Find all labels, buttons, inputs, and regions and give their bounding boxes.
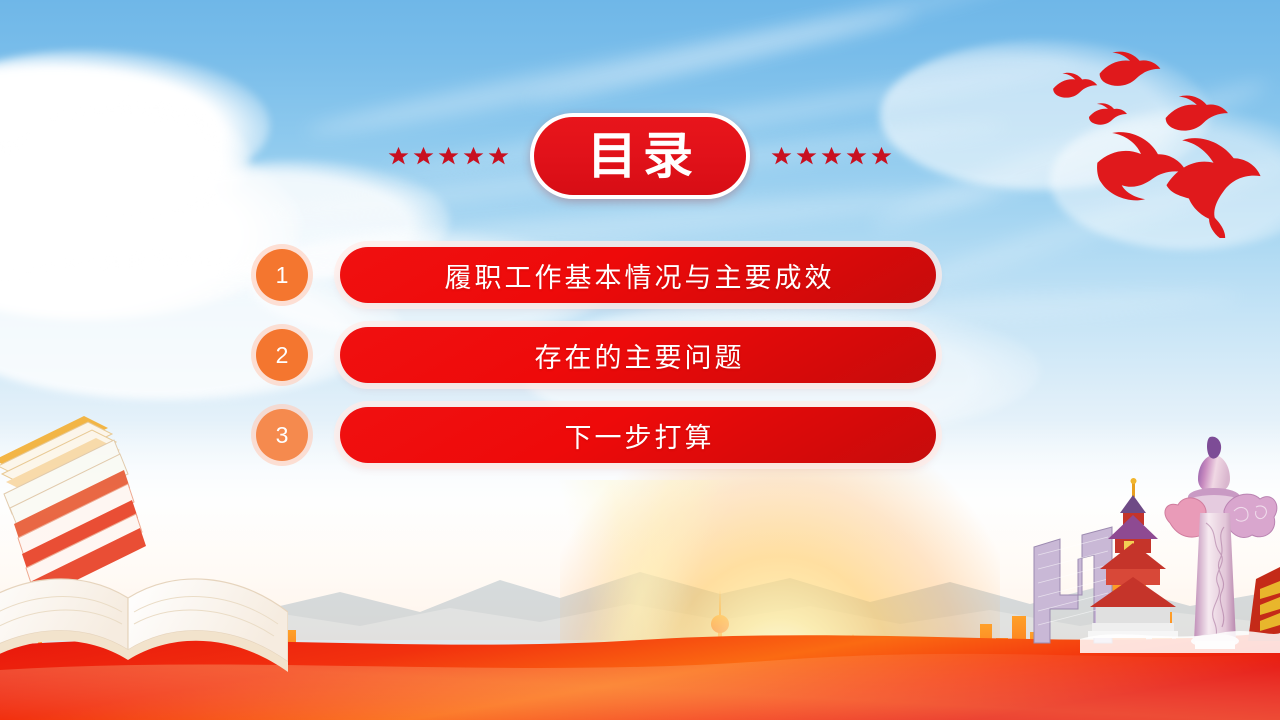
star-icon: [412, 145, 435, 167]
agenda-label-1: 履职工作基本情况与主要成效: [442, 256, 835, 295]
agenda-number-2: 2: [276, 342, 289, 369]
star-icon: [820, 145, 843, 167]
agenda-label-2: 存在的主要问题: [532, 336, 745, 375]
agenda-pill-2[interactable]: 存在的主要问题: [340, 327, 936, 383]
star-icon: [387, 145, 410, 167]
star-icon: [487, 145, 510, 167]
stars-right: [770, 145, 893, 167]
star-icon: [795, 145, 818, 167]
agenda-item-2[interactable]: 2 存在的主要问题: [0, 324, 1280, 386]
agenda-slide: 目录 1 履职工作基本情况与主要成效 2 存在的主要问题: [0, 0, 1280, 720]
agenda-number-badge-3: 3: [256, 409, 308, 461]
star-icon: [462, 145, 485, 167]
agenda-list: 1 履职工作基本情况与主要成效 2 存在的主要问题 3 下一步打算: [0, 244, 1280, 484]
agenda-pill-1[interactable]: 履职工作基本情况与主要成效: [340, 247, 936, 303]
pavilion-roof-icon: [1248, 567, 1280, 641]
agenda-number-3: 3: [276, 422, 289, 449]
slide-title-pill: 目录: [530, 113, 750, 199]
star-icon: [845, 145, 868, 167]
agenda-number-badge-2: 2: [256, 329, 308, 381]
dove-icon: [1100, 52, 1161, 86]
dove-icon: [1053, 73, 1097, 98]
agenda-label-3: 下一步打算: [562, 416, 715, 455]
title-row: 目录: [0, 112, 1280, 200]
stars-left: [387, 145, 510, 167]
star-icon: [437, 145, 460, 167]
agenda-number-1: 1: [276, 262, 289, 289]
agenda-item-3[interactable]: 3 下一步打算: [0, 404, 1280, 466]
agenda-pill-3[interactable]: 下一步打算: [340, 407, 936, 463]
page-title: 目录: [581, 131, 699, 181]
agenda-item-1[interactable]: 1 履职工作基本情况与主要成效: [0, 244, 1280, 306]
star-icon: [770, 145, 793, 167]
agenda-number-badge-1: 1: [256, 249, 308, 301]
star-icon: [870, 145, 893, 167]
